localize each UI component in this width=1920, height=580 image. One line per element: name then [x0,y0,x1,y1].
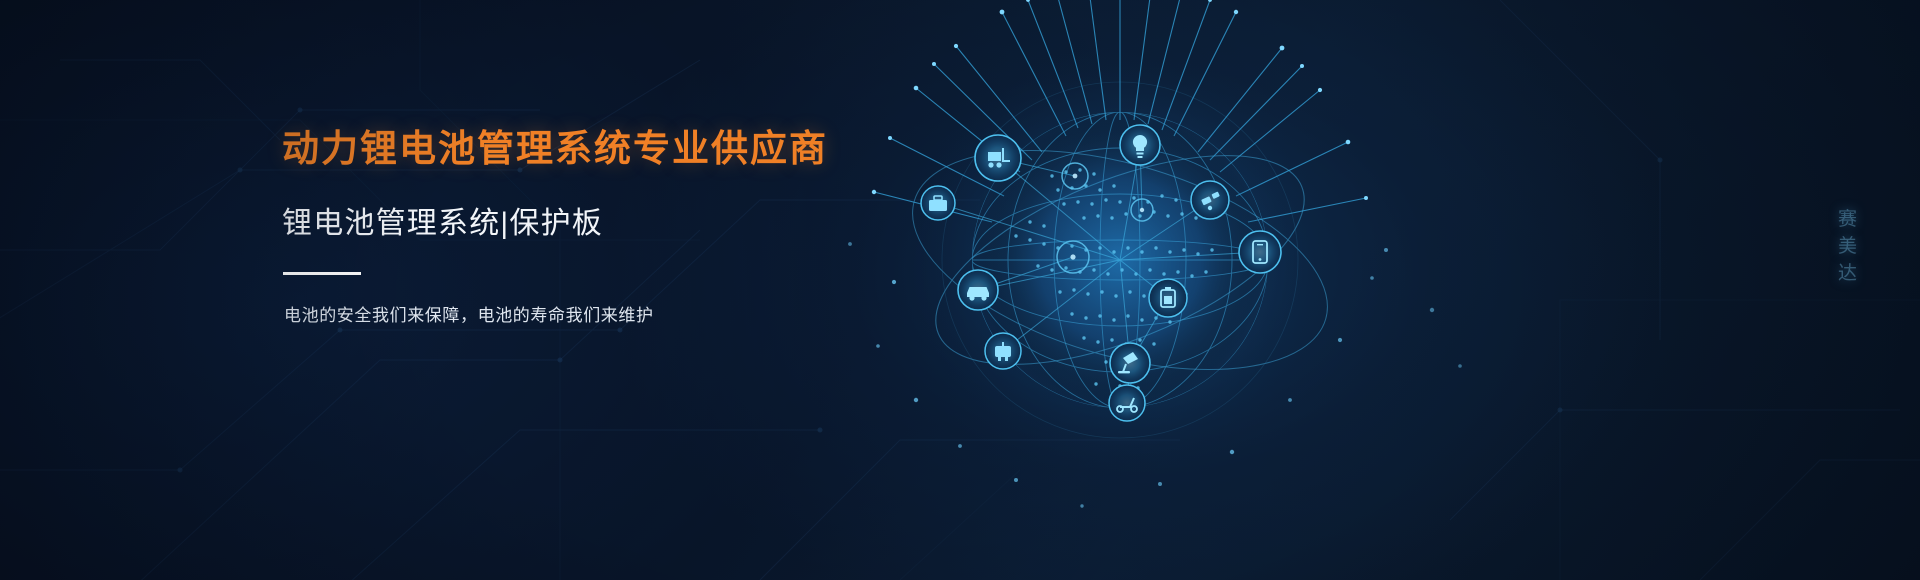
title-divider [283,272,361,275]
lightbulb-icon [1120,125,1160,165]
briefcase-icon [921,186,955,220]
robot-icon [985,333,1021,369]
car-icon [958,270,998,310]
globe-network-graphic: 赛美达 [820,0,1480,580]
desklamp-icon [1110,343,1150,383]
scooter-icon [1109,385,1145,421]
satellite-icon [1191,181,1229,219]
hero-banner: 动力锂电池管理系统专业供应商 锂电池管理系统|保护板 电池的安全我们来保障，电池… [0,0,1920,580]
forklift-icon [975,135,1021,181]
battery-icon [1149,279,1187,317]
smartphone-icon [1239,231,1281,273]
